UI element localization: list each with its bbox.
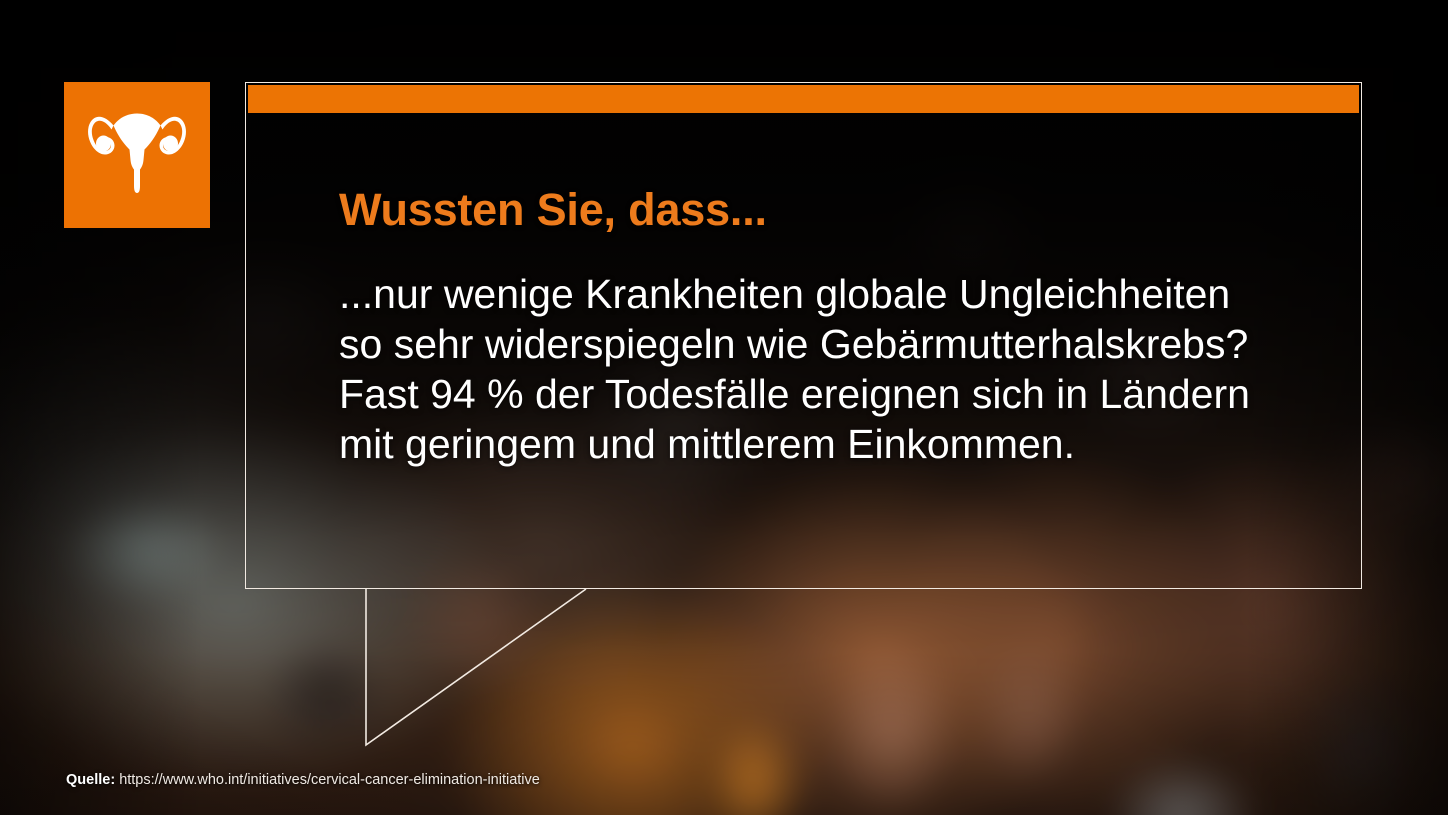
body-line-2: so sehr widerspiegeln wie Gebärmutterhal… bbox=[339, 319, 1301, 369]
body-line-1: ...nur wenige Krankheiten globale Unglei… bbox=[339, 269, 1301, 319]
body-text: ...nur wenige Krankheiten globale Unglei… bbox=[339, 269, 1301, 469]
body-line-4: mit geringem und mittlerem Einkommen. bbox=[339, 419, 1301, 469]
speech-bubble: Wussten Sie, dass... ...nur wenige Krank… bbox=[245, 82, 1362, 589]
speech-bubble-tail bbox=[340, 575, 610, 760]
page-title: Wussten Sie, dass... bbox=[339, 186, 1301, 233]
body-line-3: Fast 94 % der Todesfälle ereignen sich i… bbox=[339, 369, 1301, 419]
slide: Wussten Sie, dass... ...nur wenige Krank… bbox=[0, 0, 1448, 815]
logo-tile bbox=[64, 82, 210, 228]
accent-bar bbox=[248, 85, 1359, 113]
source-url[interactable]: https://www.who.int/initiatives/cervical… bbox=[119, 772, 540, 788]
source-label: Quelle: bbox=[66, 772, 115, 788]
uterus-icon bbox=[82, 103, 192, 207]
bubble-content: Wussten Sie, dass... ...nur wenige Krank… bbox=[339, 186, 1301, 469]
source-citation: Quelle: https://www.who.int/initiatives/… bbox=[66, 772, 540, 788]
